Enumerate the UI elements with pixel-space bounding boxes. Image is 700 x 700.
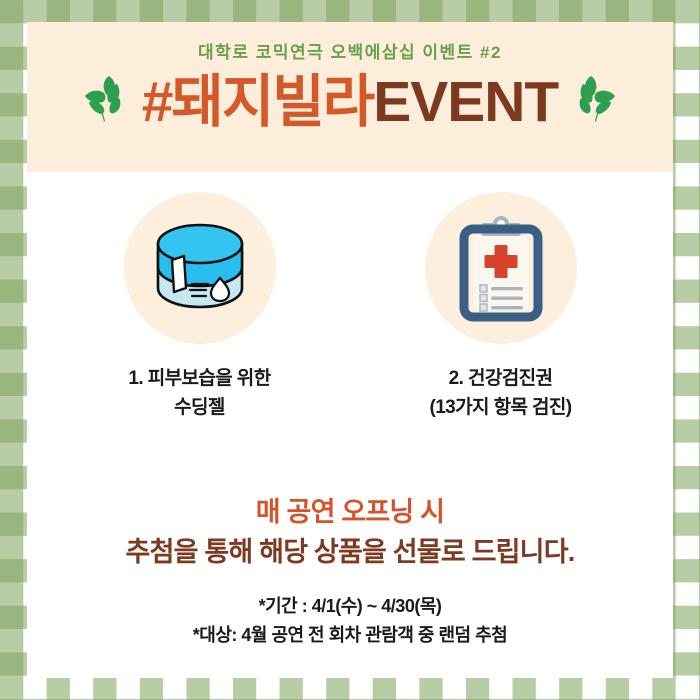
poster-header-band: 대학로 코믹연극 오백에삼십 이벤트 #2 [27,22,673,172]
poster-headline-secondary: EVENT [373,70,558,134]
leaf-sprig-icon [80,75,128,130]
fineprint-target: *대상: 4월 공연 전 회차 관람객 중 랜덤 추첨 [27,621,673,650]
poster-card: 대학로 코믹연극 오백에삼십 이벤트 #2 [27,22,673,678]
gift-item: 2. 건강검진권 (13가지 항목 검진) [393,192,608,423]
medical-clipboard-icon [451,214,551,322]
fineprint-block: *기간 : 4/1(수) ~ 4/30(목) *대상: 4월 공연 전 회차 관… [27,592,673,650]
promo-line-2: 추첨을 통해 해당 상품을 선물로 드립니다. [27,534,673,570]
gift-item-caption: 1. 피부보습을 위한 수딩젤 [92,364,307,423]
promo-line-1: 매 공연 오프닝 시 [27,494,673,530]
gift-item-caption-line-2: (13가지 항목 검진) [393,393,608,422]
event-poster: 대학로 코믹연극 오백에삼십 이벤트 #2 [0,0,700,700]
leaf-sprig-icon [572,75,620,130]
gift-icon-circle [425,192,577,344]
gift-item: 1. 피부보습을 위한 수딩젤 [92,192,307,423]
gift-item-caption-line-1: 2. 건강검진권 [393,364,608,393]
gift-item-caption-line-1: 1. 피부보습을 위한 [92,364,307,393]
poster-headline: #돼지빌라EVENT [142,74,559,131]
gift-item-caption-line-2: 수딩젤 [92,393,307,422]
poster-title-row: #돼지빌라EVENT [27,74,673,131]
sudding-gel-jar-icon [148,218,252,318]
promo-message: 매 공연 오프닝 시 추첨을 통해 해당 상품을 선물로 드립니다. [27,494,673,571]
gift-items-row: 1. 피부보습을 위한 수딩젤 [27,192,673,423]
gift-item-caption: 2. 건강검진권 (13가지 항목 검진) [393,364,608,423]
fineprint-period: *기간 : 4/1(수) ~ 4/30(목) [27,592,673,621]
poster-headline-primary: #돼지빌라 [142,70,373,134]
poster-eyebrow-text: 대학로 코믹연극 오백에삼십 이벤트 #2 [27,38,673,63]
gift-icon-circle [124,192,276,344]
